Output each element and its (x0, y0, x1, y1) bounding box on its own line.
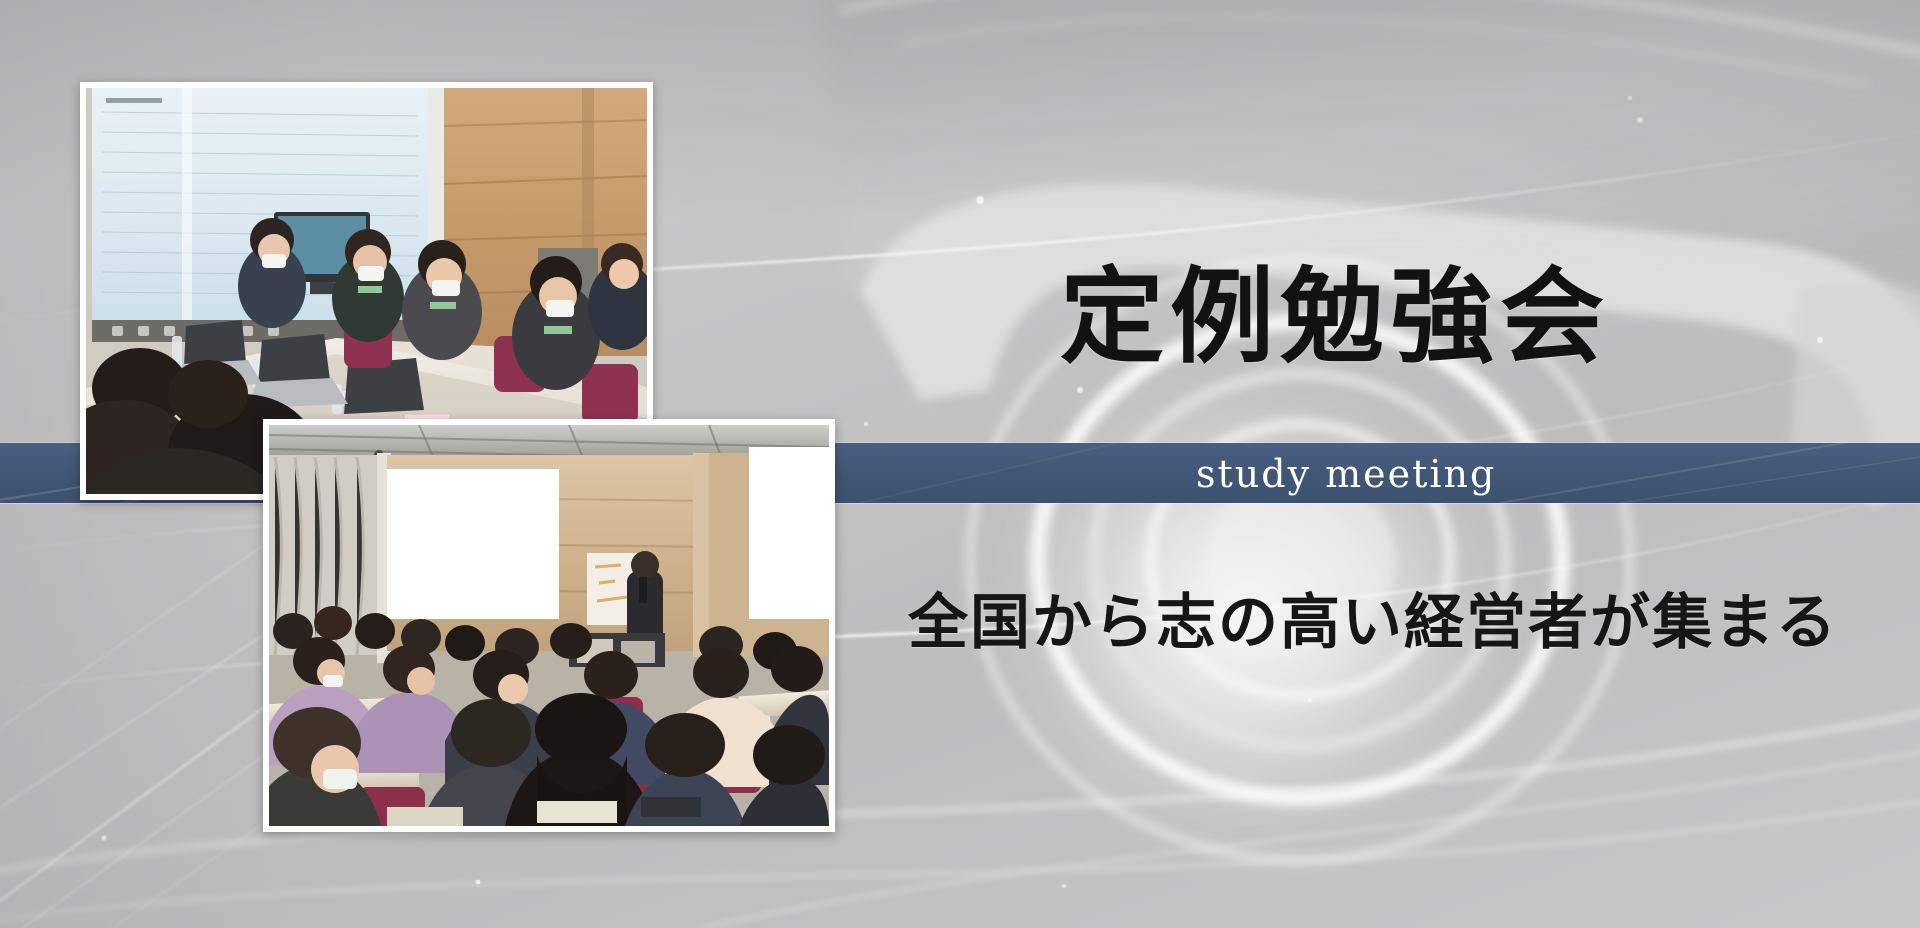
hero-banner: 定例勉強会 study meeting 全国から志の高い経営者が集まる (0, 0, 1920, 928)
photo-seminar-hall-image (269, 425, 829, 826)
page-title: 定例勉強会 (1060, 262, 1680, 371)
subtitle-english: study meeting (1196, 455, 1496, 493)
tagline: 全国から志の高い経営者が集まる (908, 590, 1838, 656)
photo-seminar-hall (263, 419, 835, 832)
